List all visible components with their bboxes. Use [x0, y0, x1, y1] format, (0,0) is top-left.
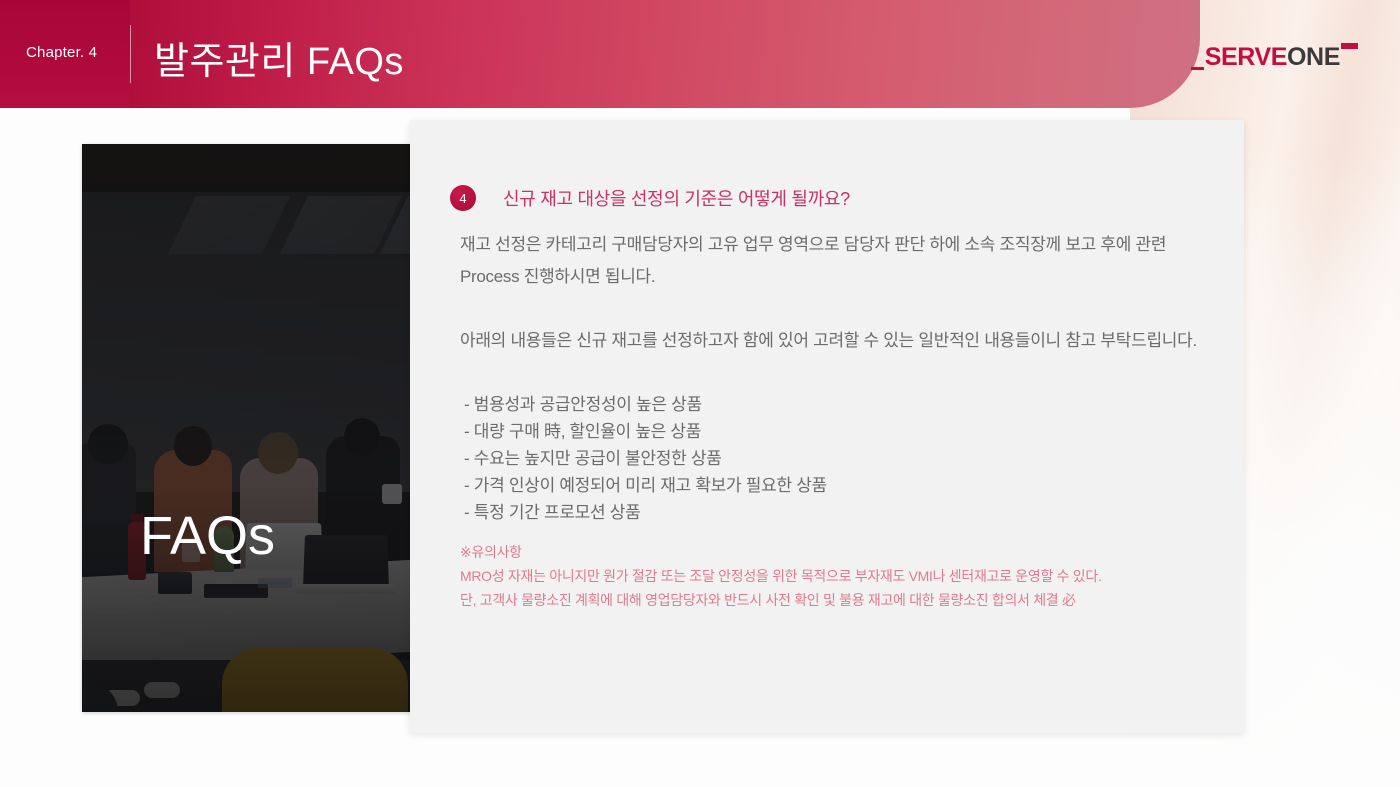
list-item: - 범용성과 공급안정성이 높은 상품	[464, 391, 1230, 418]
list-item: - 특정 기간 프로모션 상품	[464, 499, 1230, 526]
photo-label: FAQs	[140, 506, 275, 566]
notes-block: ※유의사항 MRO성 자재는 아니지만 원가 절감 또는 조달 안정성을 위한 …	[460, 540, 1230, 612]
page-title: 발주관리 FAQs	[154, 30, 404, 85]
logo-one-text: ONE	[1287, 44, 1340, 70]
list-item: - 수요는 높지만 공급이 불안정한 상품	[464, 445, 1230, 472]
header-divider	[130, 25, 131, 83]
qa-block: 4 신규 재고 대상을 선정의 기준은 어떻게 될까요? 재고 선정은 카테고리…	[450, 185, 1230, 612]
logo-serve-text: SERVE	[1205, 44, 1287, 70]
notes-line-1: MRO성 자재는 아니지만 원가 절감 또는 조달 안정성을 위한 목적으로 부…	[460, 564, 1232, 588]
criteria-list: - 범용성과 공급안정성이 높은 상품 - 대량 구매 時, 할인율이 높은 상…	[464, 391, 1230, 526]
notes-title: ※유의사항	[460, 540, 1230, 564]
chapter-label: Chapter. 4	[26, 44, 97, 61]
serveone-logo: SERVE ONE	[1191, 44, 1358, 74]
header-banner: Chapter. 4 발주관리 FAQs	[0, 0, 1200, 108]
notes-line-2: 단, 고객사 물량소진 계획에 대해 영업담당자와 반드시 사전 확인 및 불용…	[460, 588, 1232, 612]
list-item: - 대량 구매 時, 할인율이 높은 상품	[464, 418, 1230, 445]
answer-paragraph-1: 재고 선정은 카테고리 구매담당자의 고유 업무 영역으로 담당자 판단 하에 …	[460, 229, 1228, 293]
logo-underscore-icon	[1191, 67, 1204, 70]
team-photo: FAQs	[82, 144, 430, 712]
answer-paragraph-2: 아래의 내용들은 신규 재고를 선정하고자 함에 있어 고려할 수 있는 일반적…	[460, 325, 1228, 357]
list-item: - 가격 인상이 예정되어 미리 재고 확보가 필요한 상품	[464, 472, 1230, 499]
photo-dark-overlay	[82, 144, 430, 712]
question-row: 4 신규 재고 대상을 선정의 기준은 어떻게 될까요?	[450, 185, 1230, 211]
logo-dash-icon	[1341, 43, 1358, 49]
slide: Chapter. 4 발주관리 FAQs SERVE ONE	[0, 0, 1400, 787]
question-text: 신규 재고 대상을 선정의 기준은 어떻게 될까요?	[503, 185, 850, 211]
content-card: 4 신규 재고 대상을 선정의 기준은 어떻게 될까요? 재고 선정은 카테고리…	[410, 120, 1244, 733]
question-number-badge: 4	[450, 185, 476, 211]
